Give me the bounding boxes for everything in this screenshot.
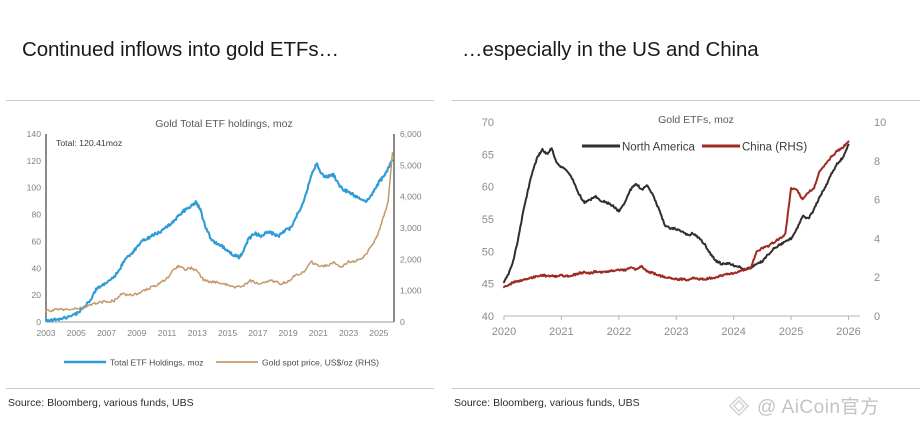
svg-text:2009: 2009 bbox=[127, 328, 146, 338]
svg-text:50: 50 bbox=[482, 246, 494, 258]
svg-text:2022: 2022 bbox=[607, 326, 631, 338]
chart-left-title: Gold Total ETF holdings, moz bbox=[10, 118, 438, 130]
svg-text:8: 8 bbox=[874, 156, 880, 168]
divider-bottom-right bbox=[452, 388, 920, 389]
svg-text:2: 2 bbox=[874, 272, 880, 284]
svg-text:6,000: 6,000 bbox=[400, 129, 422, 139]
svg-text:55: 55 bbox=[482, 214, 494, 226]
divider-top-right bbox=[452, 100, 920, 101]
svg-text:2025: 2025 bbox=[369, 328, 388, 338]
svg-text:China (RHS): China (RHS) bbox=[742, 142, 807, 154]
svg-text:1,000: 1,000 bbox=[400, 286, 422, 296]
svg-text:2021: 2021 bbox=[309, 328, 328, 338]
svg-text:2015: 2015 bbox=[218, 328, 237, 338]
svg-text:2019: 2019 bbox=[279, 328, 298, 338]
slide-root: Continued inflows into gold ETFs… Gold T… bbox=[0, 0, 922, 429]
svg-text:4,000: 4,000 bbox=[400, 192, 422, 202]
svg-text:60: 60 bbox=[482, 182, 494, 194]
svg-text:2013: 2013 bbox=[188, 328, 207, 338]
chart-right-canvas: 2020202120222023202420252026404550556065… bbox=[452, 104, 920, 386]
svg-text:2023: 2023 bbox=[664, 326, 688, 338]
svg-text:2026: 2026 bbox=[836, 326, 860, 338]
svg-text:Total ETF Holdings, moz: Total ETF Holdings, moz bbox=[110, 357, 204, 367]
svg-text:6: 6 bbox=[874, 195, 880, 207]
svg-text:2017: 2017 bbox=[248, 328, 267, 338]
svg-text:2,000: 2,000 bbox=[400, 254, 422, 264]
svg-text:120: 120 bbox=[27, 156, 42, 166]
svg-text:0: 0 bbox=[400, 317, 405, 327]
watermark: @ AiCoin官方 bbox=[728, 392, 880, 419]
divider-top-left bbox=[6, 100, 434, 101]
svg-text:0: 0 bbox=[874, 311, 880, 323]
source-note-left: Source: Bloomberg, various funds, UBS bbox=[8, 397, 194, 409]
watermark-text: @ AiCoin官方 bbox=[757, 392, 880, 419]
svg-text:2024: 2024 bbox=[721, 326, 745, 338]
svg-text:0: 0 bbox=[36, 317, 41, 327]
panel-right-headline: …especially in the US and China bbox=[462, 38, 759, 62]
svg-text:2003: 2003 bbox=[36, 328, 55, 338]
svg-text:140: 140 bbox=[27, 129, 42, 139]
svg-text:2005: 2005 bbox=[67, 328, 86, 338]
svg-text:2023: 2023 bbox=[339, 328, 358, 338]
svg-text:80: 80 bbox=[31, 210, 41, 220]
svg-text:60: 60 bbox=[31, 236, 41, 246]
svg-text:2025: 2025 bbox=[779, 326, 803, 338]
svg-text:20: 20 bbox=[31, 290, 41, 300]
svg-text:2021: 2021 bbox=[549, 326, 573, 338]
svg-text:40: 40 bbox=[31, 263, 41, 273]
panel-right: …especially in the US and China Gold ETF… bbox=[452, 0, 922, 429]
panel-left-headline: Continued inflows into gold ETFs… bbox=[22, 38, 339, 62]
svg-text:4: 4 bbox=[874, 233, 880, 245]
svg-text:2020: 2020 bbox=[492, 326, 516, 338]
svg-text:40: 40 bbox=[482, 311, 494, 323]
source-note-right: Source: Bloomberg, various funds, UBS bbox=[454, 397, 640, 409]
divider-bottom-left bbox=[6, 388, 434, 389]
panel-left: Continued inflows into gold ETFs… Gold T… bbox=[0, 0, 440, 429]
svg-text:Gold spot price, US$/oz (RHS): Gold spot price, US$/oz (RHS) bbox=[262, 357, 379, 367]
chart-left-annotation: Total: 120.41moz bbox=[56, 138, 122, 148]
chart-gold-total-etf-holdings: Gold Total ETF holdings, moz Total: 120.… bbox=[6, 104, 434, 386]
chart-right-title: Gold ETFs, moz bbox=[462, 114, 922, 126]
svg-text:100: 100 bbox=[27, 183, 42, 193]
chart-gold-etfs-regions: Gold ETFs, moz 2020202120222023202420252… bbox=[452, 104, 920, 386]
svg-text:5,000: 5,000 bbox=[400, 160, 422, 170]
svg-text:3,000: 3,000 bbox=[400, 223, 422, 233]
svg-text:2007: 2007 bbox=[97, 328, 116, 338]
diamond-icon bbox=[728, 395, 750, 417]
svg-text:65: 65 bbox=[482, 149, 494, 161]
svg-text:North America: North America bbox=[622, 142, 695, 154]
svg-text:45: 45 bbox=[482, 279, 494, 291]
svg-text:2011: 2011 bbox=[158, 328, 177, 338]
